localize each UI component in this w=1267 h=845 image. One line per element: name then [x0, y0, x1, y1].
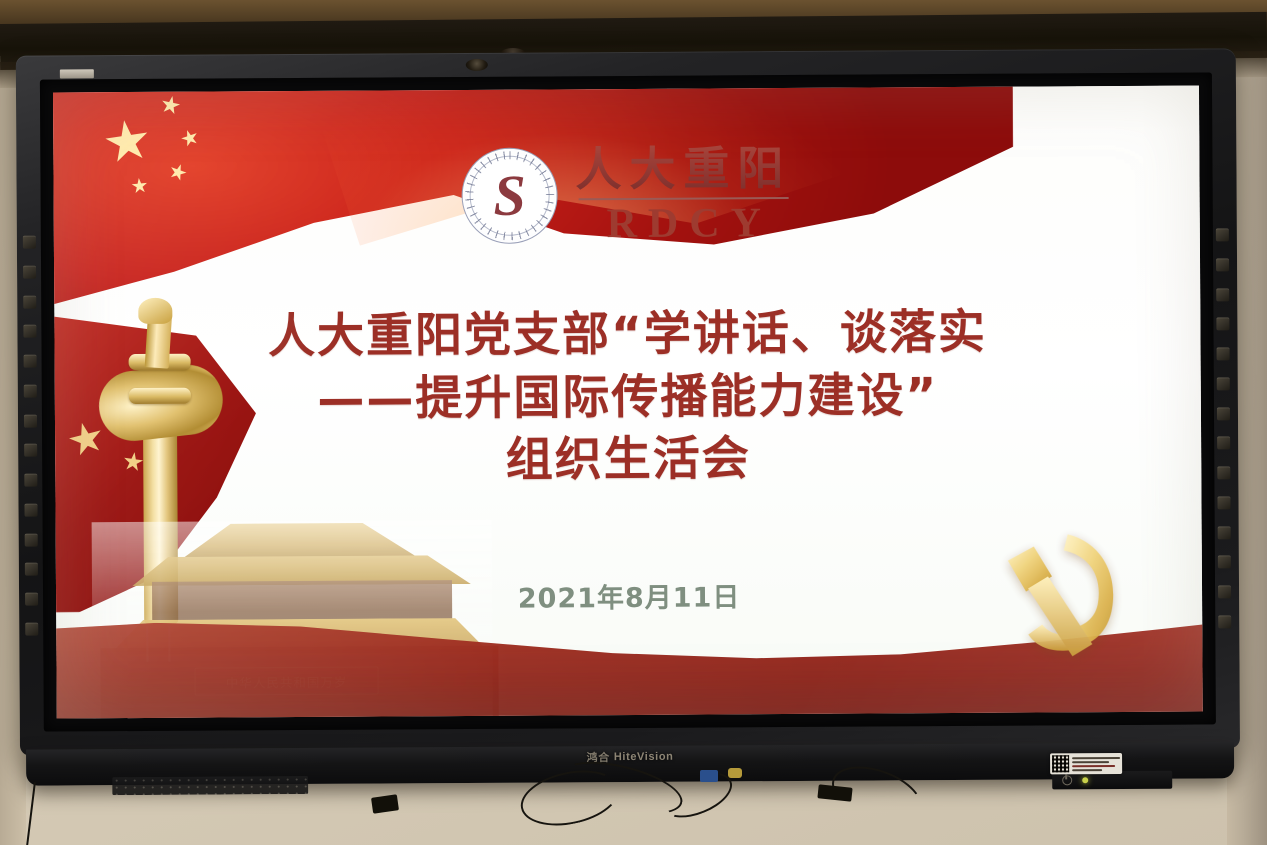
display-screen[interactable]: 中华人民共和国万岁: [53, 86, 1203, 719]
bezel-button[interactable]: [23, 265, 36, 278]
bezel-button[interactable]: [1218, 526, 1231, 539]
wordmark-chinese: 人大重阳: [575, 144, 791, 194]
slide-date: 2021年8月11日: [56, 572, 1202, 618]
rdcy-wordmark: 人大重阳 RDCY: [575, 144, 792, 245]
bezel-button[interactable]: [1217, 496, 1230, 509]
bezel-button[interactable]: [1218, 615, 1231, 628]
bezel-button[interactable]: [1217, 437, 1230, 450]
qr-code-icon: [1052, 755, 1069, 772]
slide-title-line-1: 人大重阳党支部“学讲话、谈落实: [54, 301, 1200, 370]
device-qr-label: [1050, 753, 1122, 774]
bezel-button[interactable]: [23, 236, 36, 249]
bezel-button[interactable]: [1217, 407, 1230, 420]
bezel-button[interactable]: [1216, 318, 1229, 331]
bezel-buttons-right[interactable]: [1216, 228, 1233, 628]
slide-title-line-3: 组织生活会: [55, 425, 1201, 494]
bezel-button[interactable]: [1216, 228, 1229, 241]
bezel-button[interactable]: [24, 384, 37, 397]
slide-title-line-2: ——提升国际传播能力建设”: [55, 363, 1201, 432]
bezel-button[interactable]: [1218, 556, 1231, 569]
bezel-button[interactable]: [25, 623, 38, 636]
bezel-buttons-left[interactable]: [23, 236, 40, 636]
presentation-slide: 中华人民共和国万岁: [53, 86, 1203, 719]
bezel-button[interactable]: [24, 474, 37, 487]
bezel-button[interactable]: [24, 444, 37, 457]
bezel-button[interactable]: [24, 414, 37, 427]
rdcy-seal-icon: S: [461, 147, 558, 244]
bezel-button[interactable]: [23, 325, 36, 338]
bezel-button[interactable]: [24, 355, 37, 368]
bezel-button[interactable]: [1218, 586, 1231, 599]
rdcy-logo: S 人大重阳 RDCY: [53, 142, 1200, 249]
brand-name-english: HiteVision: [614, 751, 674, 763]
bezel-button[interactable]: [25, 533, 38, 546]
interactive-flat-panel[interactable]: 中华人民共和国万岁: [16, 48, 1240, 793]
vga-connector: [700, 770, 718, 782]
seal-monogram: S: [493, 167, 526, 225]
wordmark-english: RDCY: [595, 202, 772, 245]
connector-screw: [728, 768, 742, 778]
power-led-indicator: [1082, 777, 1088, 783]
room-photo: 中华人民共和国万岁: [0, 0, 1267, 845]
bezel-button[interactable]: [25, 593, 38, 606]
bezel-button[interactable]: [1217, 347, 1230, 360]
bezel-button[interactable]: [24, 503, 37, 516]
camera-lens-icon: [466, 59, 488, 71]
bezel-button[interactable]: [1216, 288, 1229, 301]
label-text-lines: [1072, 757, 1120, 771]
bezel-button[interactable]: [25, 563, 38, 576]
bezel-label-top-left: [60, 69, 94, 78]
slide-title-block: 人大重阳党支部“学讲话、谈落实 ——提升国际传播能力建设” 组织生活会: [54, 301, 1201, 495]
bezel-button[interactable]: [1217, 377, 1230, 390]
bezel-button[interactable]: [1217, 466, 1230, 479]
bezel-button[interactable]: [23, 295, 36, 308]
speaker-grille: [112, 776, 308, 795]
power-icon[interactable]: [1062, 775, 1072, 785]
bezel-button[interactable]: [1216, 258, 1229, 271]
